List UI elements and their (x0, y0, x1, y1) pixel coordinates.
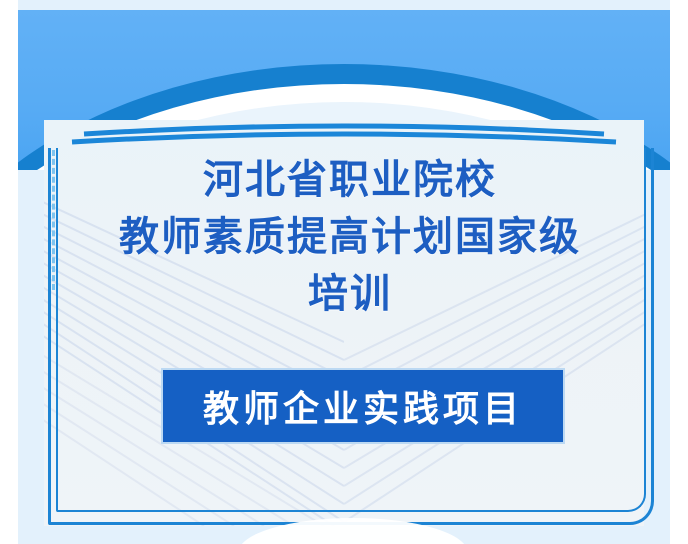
title-line-2: 教师素质提高计划国家级 (70, 209, 630, 266)
poster-canvas: 河北省职业院校 教师素质提高计划国家级 培训 教师企业实践项目 (0, 0, 688, 544)
title-line-1: 河北省职业院校 (70, 152, 630, 209)
twin-decorative-lines (44, 120, 644, 146)
page-title: 河北省职业院校 教师素质提高计划国家级 培训 (70, 152, 630, 323)
page-panel: 河北省职业院校 教师素质提高计划国家级 培训 教师企业实践项目 (18, 0, 670, 544)
subtitle-banner: 教师企业实践项目 (163, 370, 563, 442)
subtitle-banner-label: 教师企业实践项目 (203, 380, 523, 432)
title-line-3: 培训 (70, 266, 630, 323)
